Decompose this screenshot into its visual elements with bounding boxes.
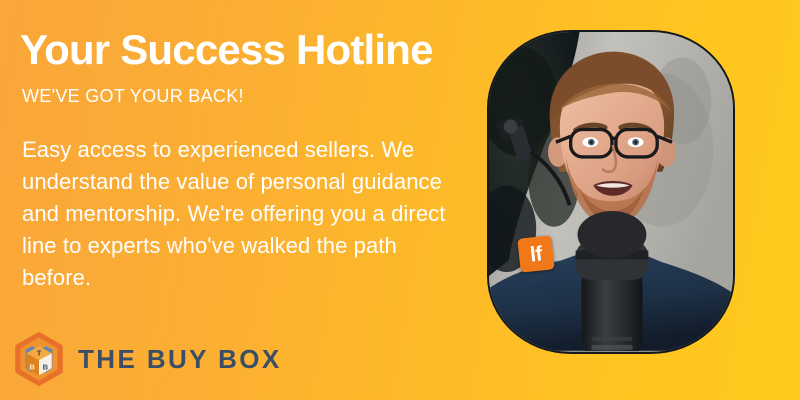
headline: Your Success Hotline	[20, 24, 480, 76]
portrait-photo-frame: lf	[487, 30, 735, 354]
cube-letter-top: T	[37, 349, 42, 358]
brand-logo-lockup: T B B THE BUY BOX	[10, 330, 282, 388]
subheadline: WE'VE GOT YOUR BACK!	[22, 84, 480, 108]
body-copy: Easy access to experienced sellers. We u…	[22, 134, 462, 294]
lf-badge-label: lf	[529, 243, 543, 265]
the-buy-box-hexagon-cube-logo-icon: T B B	[10, 330, 68, 388]
cube-letter-left: B	[29, 362, 35, 371]
promo-banner: Your Success Hotline WE'VE GOT YOUR BACK…	[0, 0, 800, 400]
speaker-portrait-image	[489, 32, 733, 351]
copy-block: Your Success Hotline WE'VE GOT YOUR BACK…	[20, 24, 480, 294]
lf-logo-badge: lf	[517, 235, 554, 272]
cube-letter-right: B	[43, 362, 49, 371]
studio-microphone	[576, 211, 649, 351]
brand-wordmark: THE BUY BOX	[78, 346, 282, 372]
